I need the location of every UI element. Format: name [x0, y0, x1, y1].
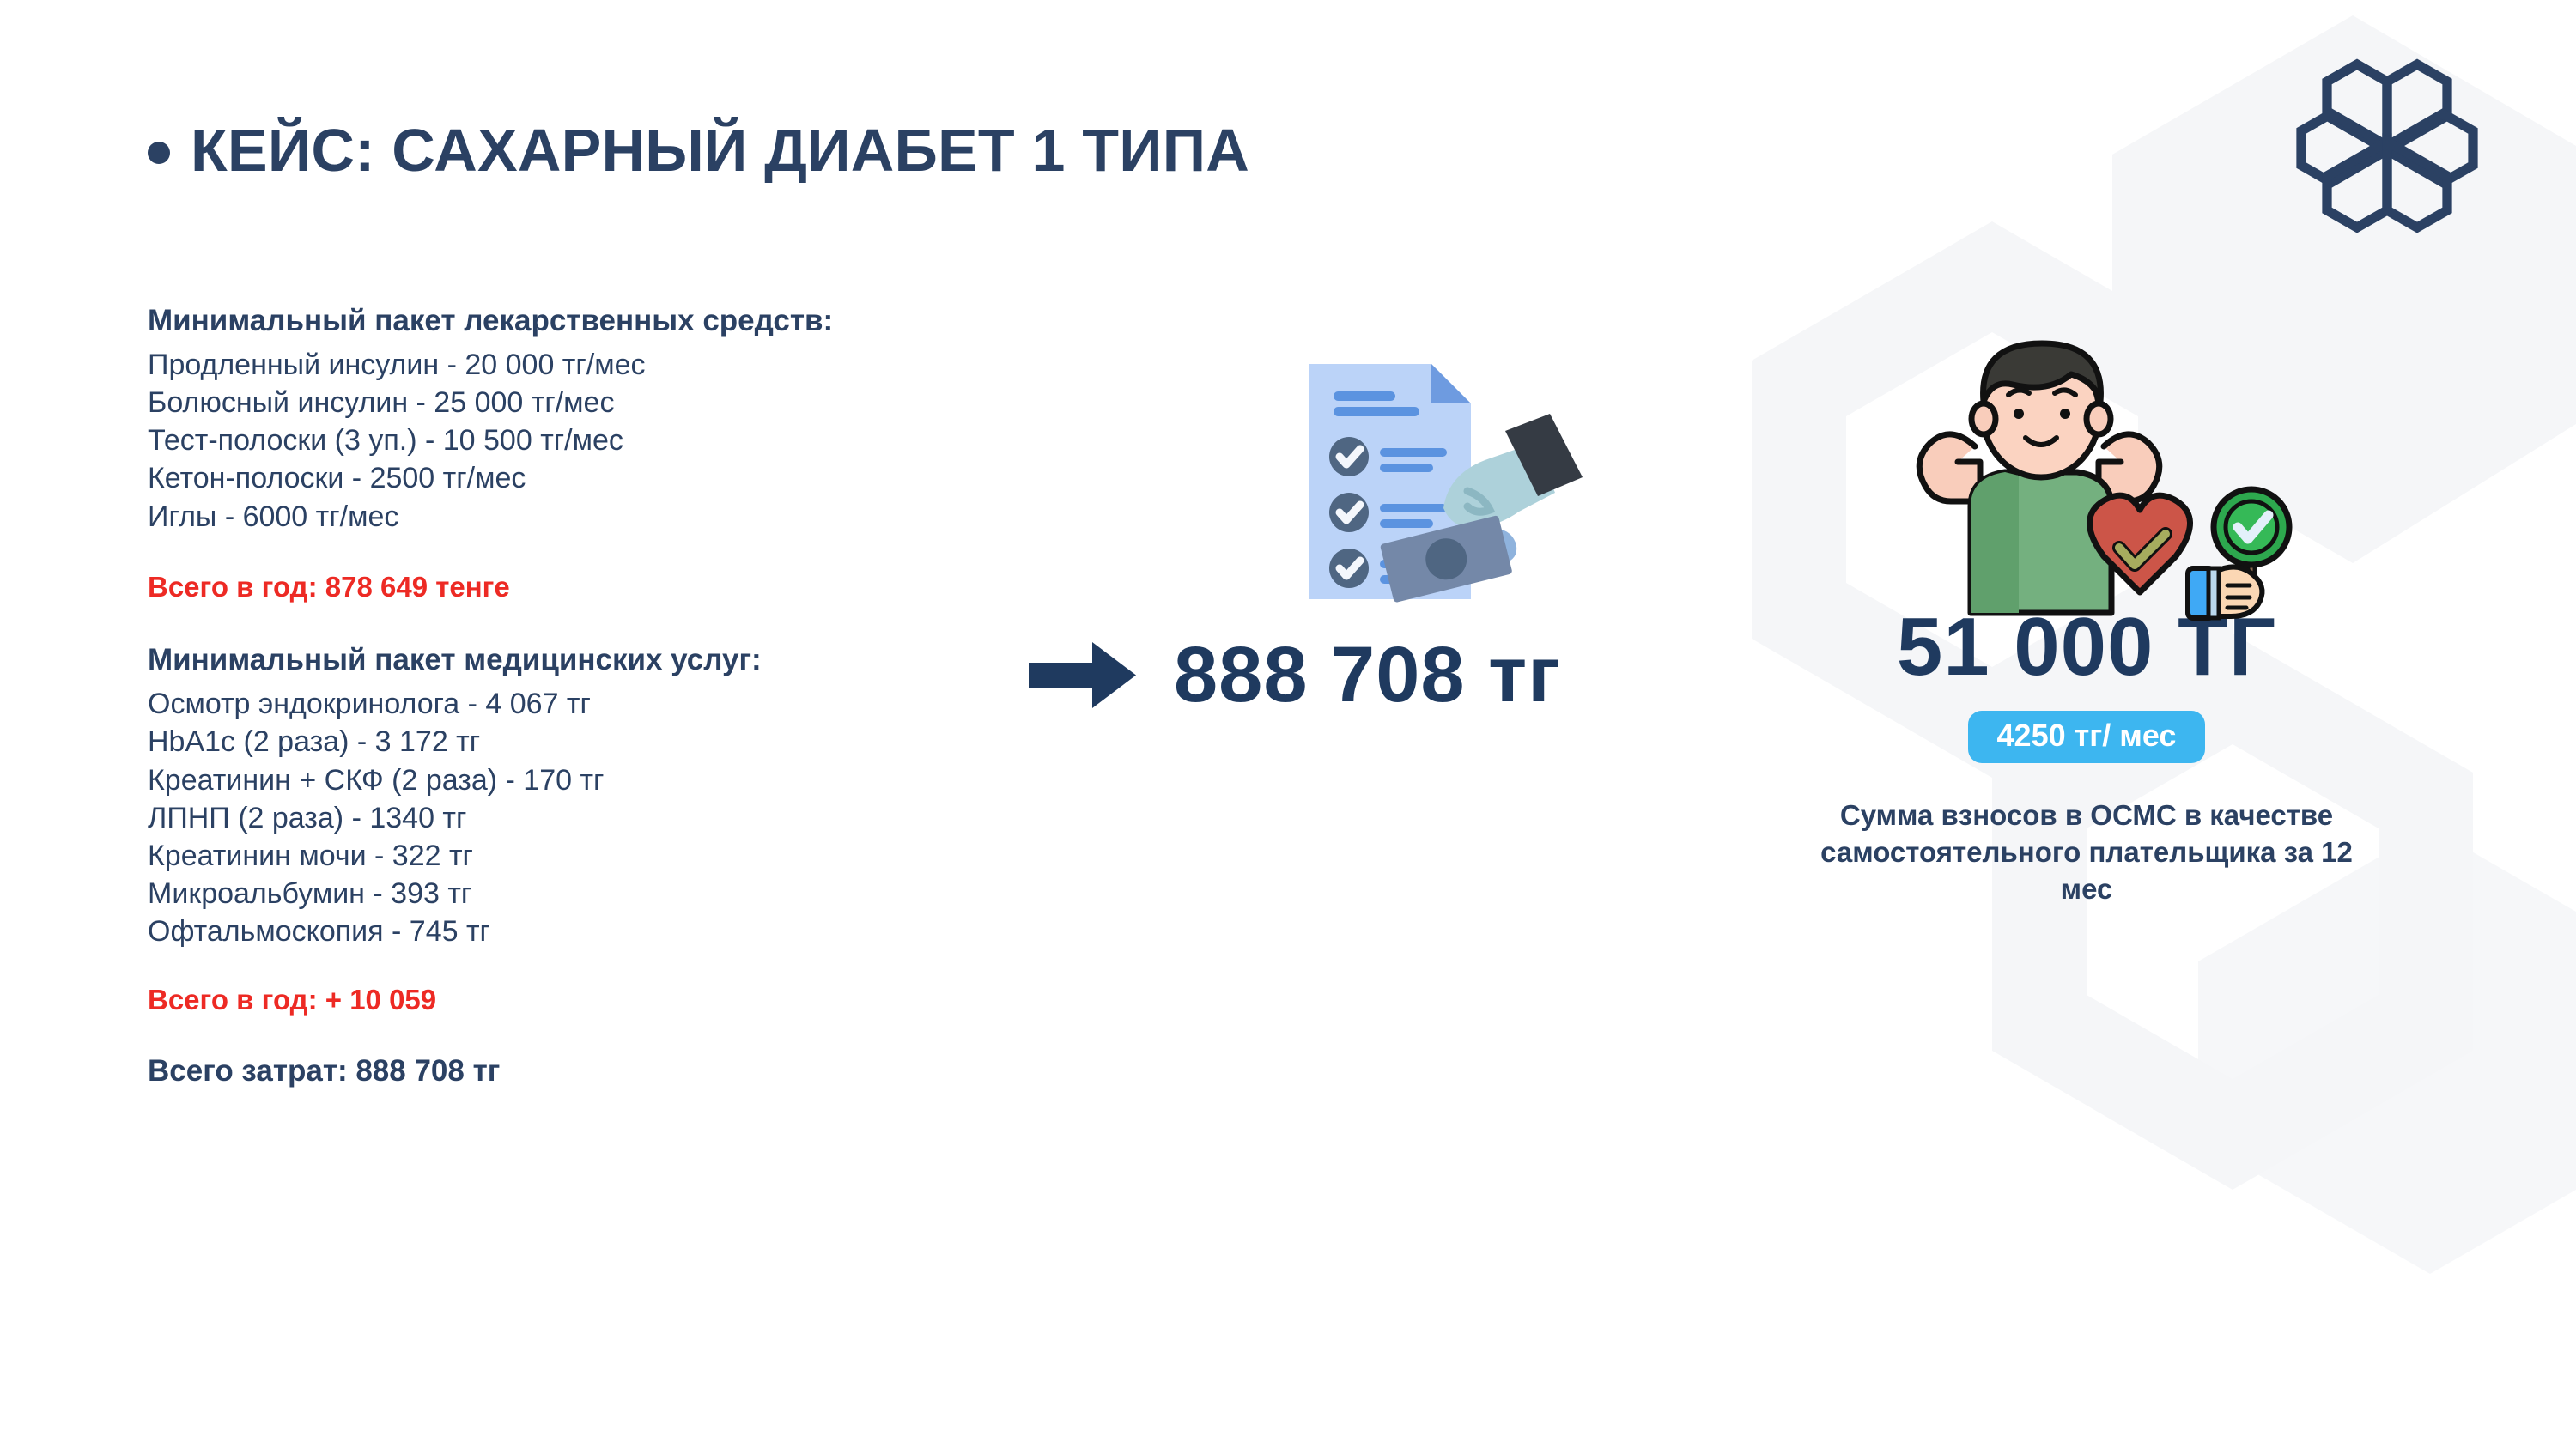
list-item: Офтальмоскопия - 745 тг: [148, 912, 1092, 950]
arrow-right-icon: [1029, 639, 1136, 712]
list-item: HbA1c (2 раза) - 3 172 тг: [148, 723, 1092, 761]
center-total-row: 888 708 тг: [1029, 635, 1562, 714]
grand-total: Всего затрат: 888 708 тг: [148, 1053, 1092, 1089]
services-heading: Минимальный пакет медицинских услуг:: [148, 641, 1092, 680]
spacer: [148, 1017, 1092, 1053]
list-item: Осмотр эндокринолога - 4 067 тг: [148, 685, 1092, 723]
medicines-heading: Минимальный пакет лекарственных средств:: [148, 302, 1092, 341]
osms-hexagon-flower-logo: [2280, 39, 2494, 253]
list-item: Болюсный инсулин - 25 000 тг/мес: [148, 384, 1092, 421]
list-item: Креатинин + СКФ (2 раза) - 170 тг: [148, 761, 1092, 799]
list-item: Микроальбумин - 393 тг: [148, 875, 1092, 912]
right-caption: Сумма взносов в ОСМС в качестве самостоя…: [1820, 797, 2353, 908]
left-content-column: Минимальный пакет лекарственных средств:…: [148, 302, 1092, 1089]
spacer: [148, 950, 1092, 983]
list-item: Иглы - 6000 тг/мес: [148, 498, 1092, 536]
medicines-list: Продленный инсулин - 20 000 тг/мес Болюс…: [148, 346, 1092, 536]
services-total: Всего в год: + 10 059: [148, 983, 1092, 1017]
slide-root: КЕЙС: САХАРНЫЙ ДИАБЕТ 1 ТИПА Минимальный…: [0, 0, 2576, 1449]
list-item: Продленный инсулин - 20 000 тг/мес: [148, 346, 1092, 384]
list-item: Креатинин мочи - 322 тг: [148, 837, 1092, 875]
strong-man-heart-check-icon: [1846, 335, 2327, 627]
center-total-value: 888 708 тг: [1174, 635, 1562, 714]
hand-holding-green-check-icon: [2188, 489, 2289, 618]
bullet-icon: [148, 142, 170, 164]
list-item: Тест-полоски (3 уп.) - 10 500 тг/мес: [148, 421, 1092, 459]
spacer: [148, 603, 1092, 641]
right-content-column: 51 000 ТГ 4250 тг/ мес Сумма взносов в О…: [1786, 335, 2387, 908]
page-title-text: КЕЙС: САХАРНЫЙ ДИАБЕТ 1 ТИПА: [191, 120, 1249, 180]
page-title: КЕЙС: САХАРНЫЙ ДИАБЕТ 1 ТИПА: [148, 120, 1249, 180]
list-item: Кетон-полоски - 2500 тг/мес: [148, 459, 1092, 497]
spacer: [148, 536, 1092, 570]
list-item: ЛПНП (2 раза) - 1340 тг: [148, 799, 1092, 837]
monthly-amount-badge: 4250 тг/ мес: [1968, 711, 2206, 763]
services-list: Осмотр эндокринолога - 4 067 тг HbA1c (2…: [148, 685, 1092, 950]
medicines-total: Всего в год: 878 649 тенге: [148, 570, 1092, 604]
document-checklist-money-hand-icon: [1284, 352, 1601, 609]
